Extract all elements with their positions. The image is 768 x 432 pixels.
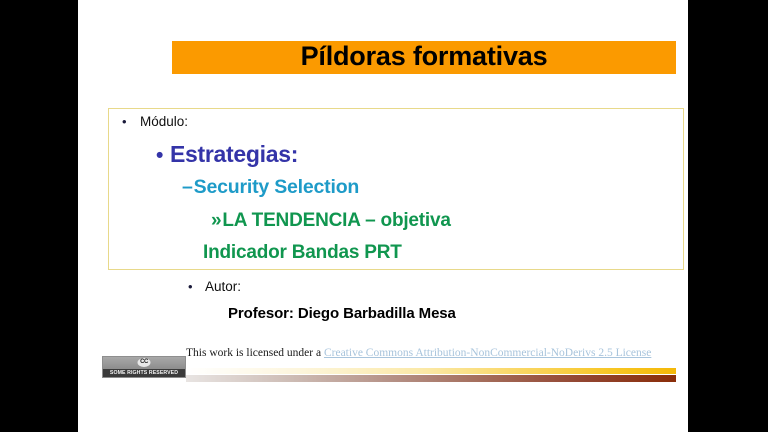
outline-item-security-selection: –Security Selection: [182, 176, 359, 199]
cc-mark-icon: CC: [138, 358, 151, 367]
bullet-icon: •: [122, 114, 140, 129]
outline-item-tendencia: »LA TENDENCIA – objetiva: [211, 210, 451, 232]
outline-label-security-selection: Security Selection: [194, 176, 359, 198]
bullet-icon: •: [188, 279, 205, 294]
outline-label-modulo: Módulo:: [140, 114, 188, 129]
dash-bullet-icon: –: [182, 176, 193, 198]
license-link[interactable]: Creative Commons Attribution-NonCommerci…: [324, 347, 651, 359]
guillemet-bullet-icon: »: [211, 210, 221, 231]
letterbox-left: [0, 0, 78, 432]
decorative-bar-yellow: [186, 368, 676, 374]
page-title: Píldoras formativas: [172, 38, 676, 76]
outline-label-tendencia: LA TENDENCIA – objetiva: [222, 210, 450, 231]
creative-commons-badge-icon[interactable]: CC SOME RIGHTS RESERVED: [102, 356, 186, 378]
author-label: Autor:: [205, 279, 241, 294]
outline-label-estrategias: Estrategias:: [170, 141, 298, 167]
slide-screen: Píldoras formativas •Módulo: •Estrategia…: [0, 0, 768, 432]
outline-item-estrategias: •Estrategias:: [156, 141, 298, 168]
outline-item-indicador-bandas-prt: Indicador Bandas PRT: [203, 242, 402, 264]
author-label-row: •Autor:: [188, 279, 241, 294]
letterbox-right: [688, 0, 768, 432]
cc-badge-caption: SOME RIGHTS RESERVED: [103, 369, 185, 378]
outline-item-modulo: •Módulo:: [122, 114, 188, 129]
cc-badge-top: CC: [103, 357, 185, 369]
bullet-icon: •: [156, 144, 170, 168]
decorative-bar-red: [186, 375, 676, 382]
license-prefix: This work is licensed under a: [186, 347, 324, 359]
author-name: Profesor: Diego Barbadilla Mesa: [228, 305, 456, 322]
license-statement: This work is licensed under a Creative C…: [186, 347, 651, 359]
presentation-slide: Píldoras formativas •Módulo: •Estrategia…: [78, 0, 688, 432]
